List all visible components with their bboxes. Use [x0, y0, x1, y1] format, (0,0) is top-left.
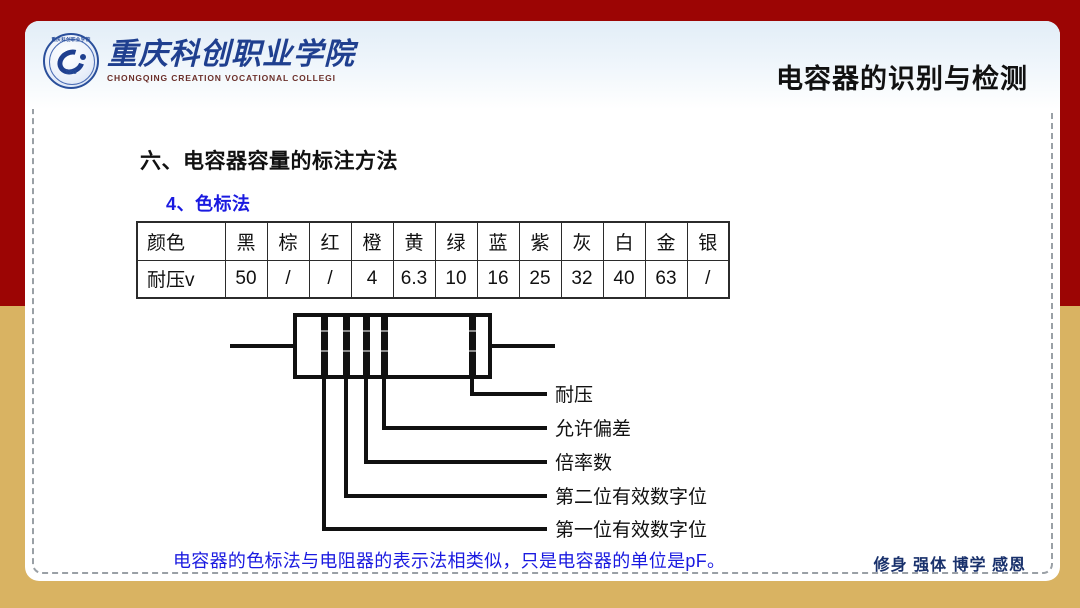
summary-note: 电容器的色标法与电阻器的表示法相类似，只是电容器的单位是pF。 — [173, 547, 725, 573]
table-rowhead-voltage: 耐压v — [137, 260, 225, 298]
table-cell-color-11: 银 — [687, 222, 729, 260]
band-3 — [363, 317, 370, 375]
school-seal-icon: 重庆科创职业学院 1993 — [43, 33, 99, 89]
slide-header: 重庆科创职业学院 1993 重庆科创职业学院 CHONGQING CREATIO… — [25, 21, 1060, 109]
table-cell-color-7: 紫 — [519, 222, 561, 260]
table-cell-voltage-0: 50 — [225, 260, 267, 298]
seal-dot-icon — [80, 54, 86, 60]
table-cell-voltage-6: 16 — [477, 260, 519, 298]
table-cell-color-3: 橙 — [351, 222, 393, 260]
leader-line-4 — [324, 377, 545, 529]
leader-line-1 — [384, 377, 545, 428]
table-cell-color-1: 棕 — [267, 222, 309, 260]
color-code-table: 颜色 黑 棕 红 橙 黄 绿 蓝 紫 灰 白 金 银 耐压v 50 — [136, 221, 730, 299]
leader-line-2 — [366, 377, 545, 462]
table-cell-color-6: 蓝 — [477, 222, 519, 260]
table-rowhead-color: 颜色 — [137, 222, 225, 260]
table-cell-voltage-10: 63 — [645, 260, 687, 298]
table-cell-voltage-5: 10 — [435, 260, 477, 298]
band-5 — [469, 317, 476, 375]
seal-year-label: 1993 — [45, 70, 97, 76]
diagram-label-0: 耐压 — [555, 384, 593, 406]
page-title: 电容器的识别与检测 — [776, 57, 1028, 96]
table-cell-color-10: 金 — [645, 222, 687, 260]
table-cell-voltage-9: 40 — [603, 260, 645, 298]
table-cell-voltage-7: 25 — [519, 260, 561, 298]
table-cell-color-4: 黄 — [393, 222, 435, 260]
school-name-block: 重庆科创职业学院 CHONGQING CREATION VOCATIONAL C… — [107, 39, 355, 83]
slide-card: 重庆科创职业学院 1993 重庆科创职业学院 CHONGQING CREATIO… — [25, 21, 1060, 581]
seal-ring-label: 重庆科创职业学院 — [45, 37, 97, 43]
leader-labels: 耐压 允许偏差 倍率数 第二位有效数字位 第一位有效数字位 — [555, 384, 707, 541]
table-cell-voltage-1: / — [267, 260, 309, 298]
diagram-label-3: 第二位有效数字位 — [555, 486, 707, 508]
capacitor-diagram: 耐压 允许偏差 倍率数 第二位有效数字位 第一位有效数字位 — [25, 305, 1060, 545]
diagram-label-4: 第一位有效数字位 — [555, 519, 707, 541]
band-1 — [321, 317, 328, 375]
school-logo: 重庆科创职业学院 1993 重庆科创职业学院 CHONGQING CREATIO… — [43, 33, 355, 89]
table-cell-voltage-3: 4 — [351, 260, 393, 298]
table-cell-voltage-2: / — [309, 260, 351, 298]
table-cell-voltage-4: 6.3 — [393, 260, 435, 298]
school-motto: 修身 强体 博学 感恩 — [874, 551, 1026, 575]
leader-line-0 — [472, 377, 545, 394]
table-cell-color-0: 黑 — [225, 222, 267, 260]
slide-content: 六、电容器容量的标注方法 4、色标法 颜色 黑 棕 红 橙 黄 绿 蓝 紫 灰 … — [25, 109, 1060, 581]
school-name-cn: 重庆科创职业学院 — [107, 39, 355, 71]
table-row-colors: 颜色 黑 棕 红 橙 黄 绿 蓝 紫 灰 白 金 银 — [137, 222, 729, 260]
band-2 — [343, 317, 350, 375]
table-cell-color-5: 绿 — [435, 222, 477, 260]
band-4 — [381, 317, 388, 375]
table-cell-voltage-11: / — [687, 260, 729, 298]
diagram-label-1: 允许偏差 — [555, 418, 631, 440]
table-cell-color-2: 红 — [309, 222, 351, 260]
leader-lines — [324, 377, 545, 529]
table-cell-color-8: 灰 — [561, 222, 603, 260]
diagram-label-2: 倍率数 — [555, 452, 612, 474]
sub-heading: 4、色标法 — [166, 190, 251, 216]
table-cell-color-9: 白 — [603, 222, 645, 260]
school-name-en: CHONGQING CREATION VOCATIONAL COLLEGI — [107, 73, 355, 83]
table-row-voltages: 耐压v 50 / / 4 6.3 10 16 25 32 40 63 / — [137, 260, 729, 298]
section-heading: 六、电容器容量的标注方法 — [140, 145, 398, 175]
table-cell-voltage-8: 32 — [561, 260, 603, 298]
